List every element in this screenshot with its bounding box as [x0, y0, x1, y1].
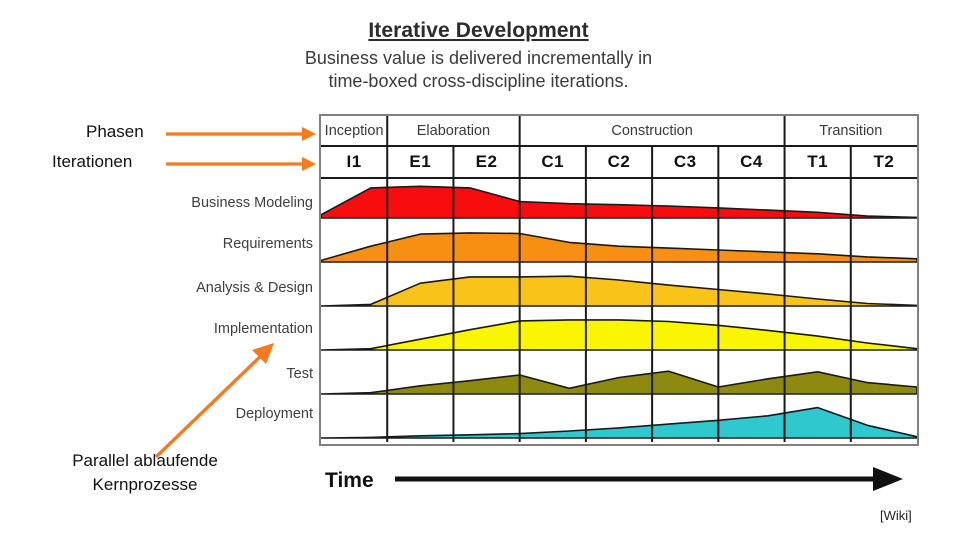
iteration-cell-c2[interactable]: C2	[586, 146, 652, 178]
discipline-label-column: Business Modeling Requirements Analysis …	[153, 0, 313, 549]
iteration-cell-i1[interactable]: I1	[321, 146, 387, 178]
iteration-cell-c4[interactable]: C4	[718, 146, 784, 178]
iteration-cell-t2[interactable]: T2	[851, 146, 917, 178]
time-axis-label: Time	[325, 469, 374, 493]
series-area-implementation	[321, 320, 917, 350]
title-block: Iterative Development Business value is …	[0, 18, 957, 93]
series-area-deployment	[321, 408, 917, 438]
iteration-cell-e1[interactable]: E1	[387, 146, 453, 178]
page-title: Iterative Development	[0, 18, 957, 44]
series-area-test	[321, 371, 917, 394]
time-arrow-icon	[395, 466, 903, 492]
phase-cell-elaboration[interactable]: Elaboration	[387, 116, 519, 146]
series-area-requirements	[321, 233, 917, 262]
discipline-label-requirements: Requirements	[153, 236, 313, 252]
iteration-cell-t1[interactable]: T1	[785, 146, 851, 178]
annotation-phasen: Phasen	[86, 122, 144, 142]
series-areas	[321, 186, 917, 438]
iteration-cell-c1[interactable]: C1	[520, 146, 586, 178]
iterative-development-chart: InceptionElaborationConstructionTransiti…	[319, 114, 919, 446]
discipline-label-deployment: Deployment	[153, 406, 313, 422]
attribution-label: [Wiki]	[880, 508, 912, 523]
page-subtitle: Business value is delivered incrementall…	[0, 47, 957, 93]
series-area-business-modeling	[321, 186, 917, 218]
annotation-iterationen: Iterationen	[52, 152, 132, 172]
series-area-analysis-design	[321, 276, 917, 306]
phase-cell-transition[interactable]: Transition	[785, 116, 917, 146]
discipline-label-test: Test	[153, 366, 313, 382]
discipline-label-analysis-design: Analysis & Design	[153, 280, 313, 296]
iteration-cell-c3[interactable]: C3	[652, 146, 718, 178]
discipline-label-implementation: Implementation	[153, 321, 313, 337]
iteration-cell-e2[interactable]: E2	[453, 146, 519, 178]
discipline-label-business-modeling: Business Modeling	[153, 195, 313, 211]
subtitle-line-1: Business value is delivered incrementall…	[0, 47, 957, 70]
phase-cell-construction[interactable]: Construction	[520, 116, 785, 146]
phase-cell-inception[interactable]: Inception	[321, 116, 387, 146]
subtitle-line-2: time-boxed cross-discipline iterations.	[0, 70, 957, 93]
